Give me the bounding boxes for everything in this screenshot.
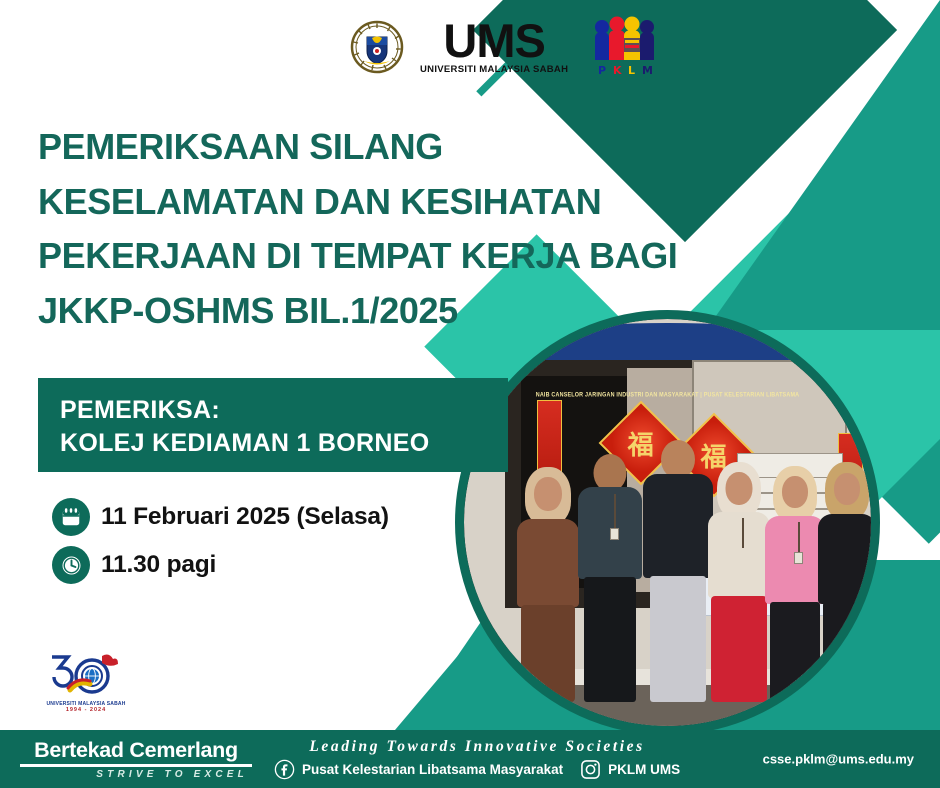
anniversary-logo: UNIVERSITI MALAYSIA SABAH 1994 - 2024 — [42, 648, 130, 722]
title-line-3: PEKERJAAN DI TEMPAT KERJA BAGI — [38, 229, 768, 284]
svg-text:L: L — [628, 64, 635, 77]
title-line-4: JKKP-OSHMS BIL.1/2025 — [38, 284, 768, 339]
social-instagram[interactable]: PKLM UMS — [580, 759, 680, 780]
ums-crest-icon — [350, 20, 404, 74]
ums-wordmark-subtitle: UNIVERSITI MALAYSIA SABAH — [420, 64, 568, 75]
poster-canvas: UMS UNIVERSITI MALAYSIA SABAH P K L M — [0, 0, 940, 788]
anniversary-years: 1994 - 2024 — [66, 707, 106, 713]
footer-motto: Leading Towards Innovative Societies — [274, 738, 680, 756]
examiner-banner: PEMERIKSA: KOLEJ KEDIAMAN 1 BORNEO — [38, 378, 508, 472]
footer-bar: Bertekad Cemerlang STRIVE TO EXCEL Leadi… — [0, 730, 940, 788]
social-facebook[interactable]: Pusat Kelestarian Libatsama Masyarakat — [274, 759, 563, 780]
title-line-2: KESELAMATAN DAN KESIHATAN — [38, 175, 768, 230]
social-instagram-label: PKLM UMS — [608, 762, 680, 777]
calendar-icon — [52, 498, 90, 536]
photo-signboard-text: NAIB CANSELOR JARINGAN INDUSTRI DAN MASY… — [464, 392, 871, 400]
pklm-logo-icon: P K L M — [590, 16, 658, 78]
footer-middle: Leading Towards Innovative Societies Pus… — [274, 738, 680, 780]
title-line-1: PEMERIKSAAN SILANG — [38, 120, 768, 175]
group-photo: NAIB CANSELOR JARINGAN INDUSTRI DAN MASY… — [455, 310, 880, 735]
detail-row-date: 11 Februari 2025 (Selasa) — [52, 498, 389, 536]
detail-time-text: 11.30 pagi — [101, 551, 216, 579]
detail-date-text: 11 Februari 2025 (Selasa) — [101, 503, 389, 531]
footer-socials: Pusat Kelestarian Libatsama Masyarakat P… — [274, 759, 680, 780]
footer-tagline: Bertekad Cemerlang STRIVE TO EXCEL — [20, 738, 252, 780]
facebook-icon — [274, 759, 295, 780]
examiner-value: KOLEJ KEDIAMAN 1 BORNEO — [60, 427, 508, 460]
footer-email[interactable]: csse.pklm@ums.edu.my — [763, 752, 914, 767]
anniversary-mark-icon — [44, 648, 128, 700]
event-details: 11 Februari 2025 (Selasa) 11.30 pagi — [52, 498, 389, 594]
detail-row-time: 11.30 pagi — [52, 546, 389, 584]
svg-text:K: K — [613, 64, 622, 77]
logo-row: UMS UNIVERSITI MALAYSIA SABAH P K L M — [350, 16, 658, 78]
ums-wordmark-main: UMS — [443, 19, 544, 62]
poster-title: PEMERIKSAAN SILANG KESELAMATAN DAN KESIH… — [38, 120, 768, 339]
ums-wordmark: UMS UNIVERSITI MALAYSIA SABAH — [420, 19, 568, 74]
instagram-icon — [580, 759, 601, 780]
examiner-label: PEMERIKSA: — [60, 394, 508, 427]
social-facebook-label: Pusat Kelestarian Libatsama Masyarakat — [302, 762, 563, 777]
clock-icon — [52, 546, 90, 584]
footer-tagline-sub: STRIVE TO EXCEL — [20, 769, 252, 780]
svg-text:P: P — [598, 64, 606, 77]
svg-text:M: M — [642, 64, 653, 77]
footer-tagline-main: Bertekad Cemerlang — [20, 738, 252, 767]
